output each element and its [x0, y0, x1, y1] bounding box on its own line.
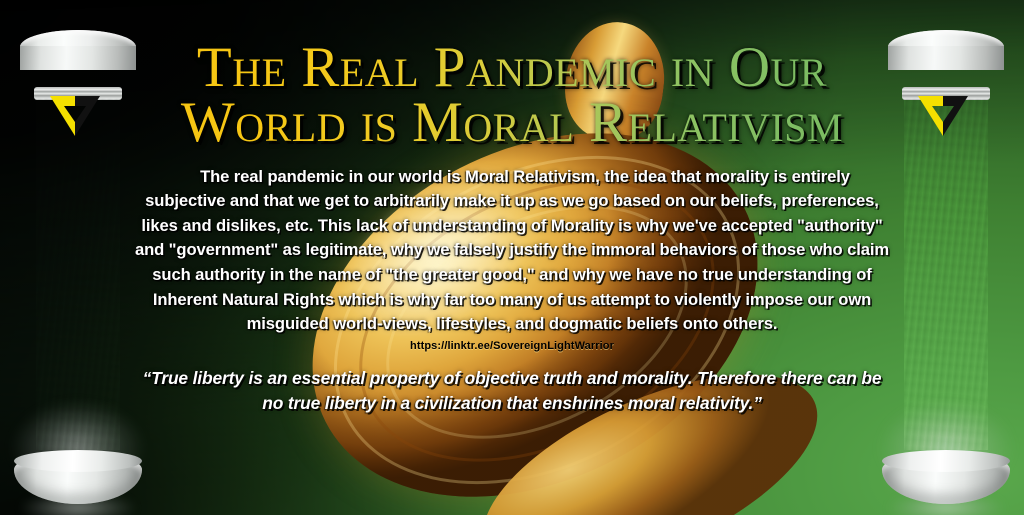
column-shaft-texture-left: [36, 98, 120, 450]
page-title-line-1: The Real Pandemic in Our: [118, 40, 906, 95]
chevron-v-logo-glyph: [48, 92, 102, 138]
pull-quote: “True liberty is an essential property o…: [138, 366, 886, 416]
linktree-url[interactable]: https://linktr.ee/SovereignLightWarrior: [118, 340, 906, 352]
page-title: The Real Pandemic in Our World is Moral …: [118, 0, 906, 151]
poster-canvas: The Real Pandemic in Our World is Moral …: [0, 0, 1024, 515]
chevron-v-logo: [916, 92, 970, 138]
chevron-v-logo: [48, 92, 102, 138]
body-paragraph-text: The real pandemic in our world is Moral …: [135, 167, 889, 334]
poster-content: The Real Pandemic in Our World is Moral …: [118, 0, 906, 515]
body-paragraph: The real pandemic in our world is Moral …: [134, 151, 890, 337]
column-shaft-texture-right: [904, 98, 988, 450]
chevron-v-logo-glyph: [916, 92, 970, 138]
page-title-line-2: World is Moral Relativism: [118, 95, 906, 150]
